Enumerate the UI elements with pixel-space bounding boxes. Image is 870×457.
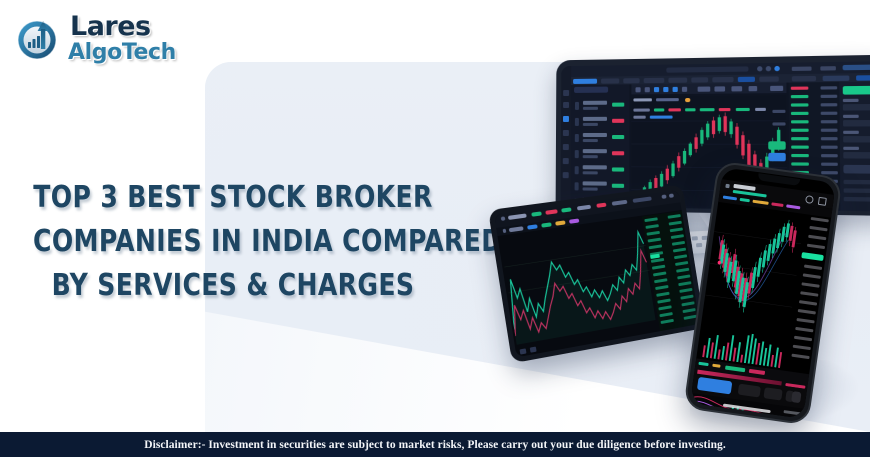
- watchlist-row[interactable]: [575, 101, 625, 112]
- infographic-banner: Lares AlgoTech TOP 3 BEST STOCK BROKER C…: [0, 0, 870, 457]
- phone-screen[interactable]: [690, 167, 836, 419]
- more-icon: [818, 197, 827, 206]
- depth-row: [791, 119, 837, 125]
- watchlist-panel[interactable]: [571, 84, 630, 207]
- depth-row: [791, 161, 838, 168]
- headline-line-1: TOP 3 BEST STOCK BROKER: [33, 176, 433, 220]
- depth-row: [791, 111, 837, 118]
- disclaimer-text: Disclaimer:- Investment in securities ar…: [144, 439, 726, 451]
- depth-row: [791, 94, 837, 101]
- tablet-bezel: [488, 184, 705, 363]
- tablet-line-chart[interactable]: [500, 217, 658, 345]
- brand-logo[interactable]: Lares AlgoTech: [8, 6, 183, 68]
- smartphone-device: [700, 168, 826, 418]
- depth-row: [791, 128, 838, 134]
- watchlist-row[interactable]: [575, 117, 625, 128]
- logo-line-algotech: AlgoTech: [68, 41, 180, 64]
- logo-bar-chart-arrow-icon: [14, 12, 66, 64]
- buy-button[interactable]: [843, 86, 870, 95]
- search-icon: [805, 195, 814, 204]
- range-tab[interactable]: [738, 384, 761, 398]
- logo-wordmark: Lares AlgoTech: [68, 10, 180, 66]
- settings-icon[interactable]: [791, 391, 801, 403]
- headline-line-3: BY SERVICES & CHARGES: [33, 264, 433, 308]
- watchlist-row[interactable]: [575, 165, 625, 177]
- depth-row: [791, 102, 837, 109]
- disclaimer-bar: Disclaimer:- Investment in securities ar…: [0, 432, 870, 457]
- tablet-device: [500, 196, 700, 346]
- page-title: TOP 3 BEST STOCK BROKER COMPANIES IN IND…: [33, 176, 433, 308]
- depth-row: [791, 85, 837, 92]
- watchlist-row[interactable]: [575, 181, 626, 193]
- logo-line-lares: Lares: [70, 13, 180, 40]
- headline-line-2: COMPANIES IN INDIA COMPARED: [33, 220, 433, 264]
- order-entry-panel[interactable]: [839, 81, 870, 211]
- terminal-left-rail[interactable]: [561, 66, 572, 206]
- depth-row: [791, 153, 838, 160]
- phone-candlestick-chart[interactable]: [702, 202, 806, 331]
- watchlist-row[interactable]: [575, 149, 625, 160]
- phone-bezel: [683, 160, 843, 425]
- depth-row: [791, 136, 838, 142]
- trade-button[interactable]: [697, 377, 732, 395]
- place-order-button[interactable]: [843, 165, 870, 174]
- depth-row: [791, 144, 838, 150]
- daily-tab[interactable]: [763, 387, 782, 400]
- tablet-screen[interactable]: [494, 190, 700, 358]
- watchlist-row[interactable]: [575, 133, 625, 144]
- chart-toolbar[interactable]: [631, 83, 786, 95]
